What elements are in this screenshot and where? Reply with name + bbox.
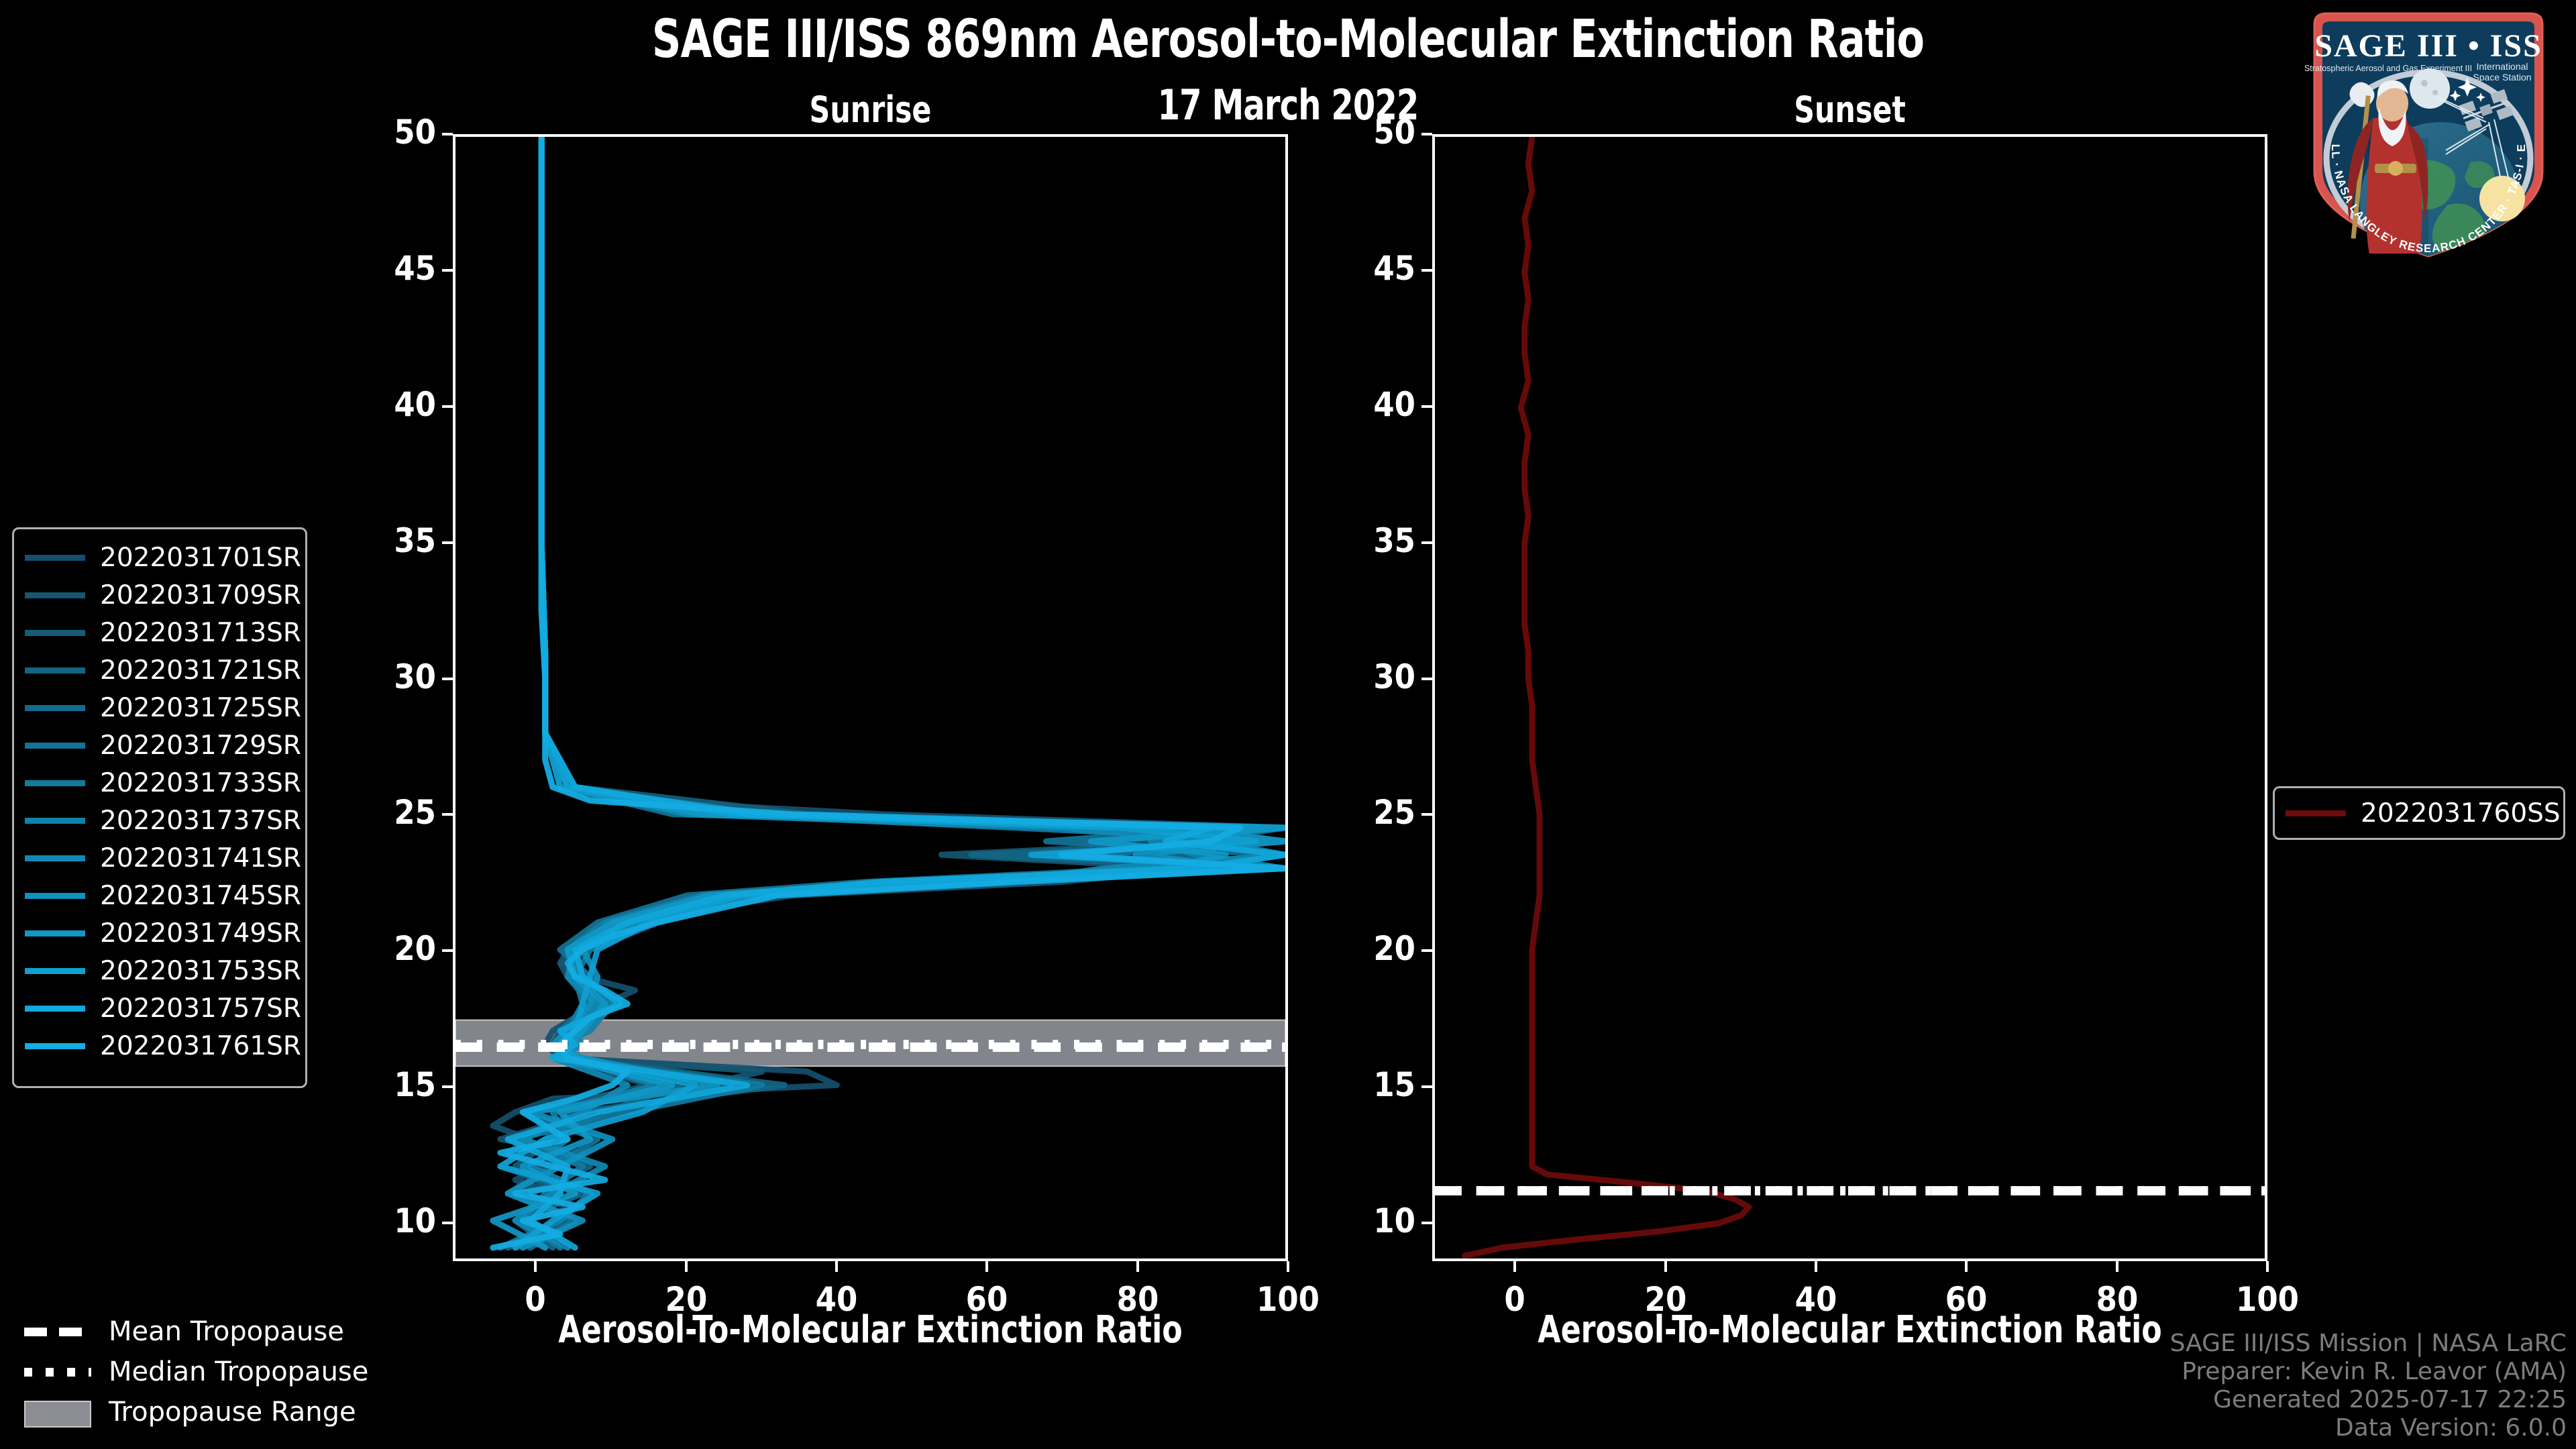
y-axis-tick-label: 30	[352, 657, 436, 696]
legend-label: 2022031745SR	[100, 881, 301, 911]
legend-row[interactable]: 2022031749SR	[25, 914, 294, 952]
legend-color-swatch	[25, 968, 85, 974]
y-axis-tick-mark	[442, 678, 453, 680]
y-axis-tick-mark	[1421, 541, 1432, 544]
x-axis-tick-label: 0	[487, 1280, 584, 1319]
legend-label: 2022031729SR	[100, 731, 301, 761]
legend-color-swatch	[25, 1043, 85, 1049]
y-axis-tick-mark	[1421, 678, 1432, 680]
legend-label: 2022031753SR	[100, 956, 301, 986]
legend-row[interactable]: 2022031753SR	[25, 952, 294, 989]
y-axis-tick-mark	[1421, 949, 1432, 952]
y-axis-tick-mark	[1421, 133, 1432, 136]
y-axis-tick-mark	[1421, 405, 1432, 408]
x-axis-tick-label: 20	[1617, 1280, 1714, 1319]
panel-title-sunrise: Sunrise	[503, 89, 1238, 131]
y-axis-tick-label: 35	[352, 521, 436, 560]
legend-label: 2022031701SR	[100, 543, 301, 573]
dashed-line-icon	[24, 1328, 91, 1336]
legend-label: 2022031749SR	[100, 918, 301, 949]
x-axis-tick-label: 40	[788, 1280, 885, 1319]
y-axis-tick-label: 10	[352, 1201, 436, 1240]
y-axis-tick-label: 40	[352, 385, 436, 424]
y-axis-tick-mark	[442, 269, 453, 272]
plot-area-sunrise[interactable]	[453, 134, 1288, 1261]
legend-row[interactable]: 2022031701SR	[25, 539, 294, 576]
legend-color-swatch	[25, 667, 85, 674]
x-axis-tick-mark	[534, 1261, 537, 1272]
x-axis-tick-mark	[835, 1261, 838, 1272]
x-axis-tick-mark	[1513, 1261, 1516, 1272]
y-axis-tick-label: 45	[1331, 249, 1415, 288]
x-axis-tick-label: 60	[938, 1280, 1035, 1319]
legend-label-mean-tropopause: Mean Tropopause	[109, 1316, 344, 1347]
x-axis-tick-label: 80	[2069, 1280, 2165, 1319]
legend-label: 2022031721SR	[100, 655, 301, 686]
y-axis-tick-label: 20	[1331, 929, 1415, 968]
x-axis-tick-mark	[1664, 1261, 1667, 1272]
legend-row[interactable]: 2022031737SR	[25, 802, 294, 839]
x-axis-tick-label: 40	[1768, 1280, 1864, 1319]
legend-color-swatch	[25, 780, 85, 786]
profile-line	[515, 137, 1285, 1248]
credits-line-generated: Generated 2025-07-17 22:25	[2170, 1386, 2567, 1414]
legend-row[interactable]: 2022031761SR	[25, 1027, 294, 1065]
y-axis-tick-mark	[442, 541, 453, 544]
y-axis-tick-mark	[1421, 1085, 1432, 1088]
legend-label: 2022031741SR	[100, 843, 301, 873]
profile-line	[1465, 137, 1749, 1256]
x-axis-tick-label: 60	[1918, 1280, 2015, 1319]
legend-color-swatch	[25, 1006, 85, 1012]
y-axis-tick-label: 25	[1331, 793, 1415, 832]
y-axis-tick-label: 30	[1331, 657, 1415, 696]
dotted-line-icon	[24, 1368, 91, 1377]
legend-sunset[interactable]: 2022031760SS	[2273, 786, 2565, 840]
legend-label: 2022031725SR	[100, 693, 301, 723]
x-axis-tick-mark	[1136, 1261, 1139, 1272]
plot-area-sunset[interactable]	[1432, 134, 2267, 1261]
legend-row[interactable]: 2022031725SR	[25, 689, 294, 727]
y-axis-tick-mark	[442, 949, 453, 952]
legend-label: 2022031757SR	[100, 994, 301, 1024]
legend-label: 2022031737SR	[100, 806, 301, 836]
legend-row[interactable]: 2022031733SR	[25, 764, 294, 802]
credits-line-preparer: Preparer: Kevin R. Leavor (AMA)	[2170, 1358, 2567, 1386]
y-axis-tick-label: 10	[1331, 1201, 1415, 1240]
y-axis-tick-mark	[442, 1222, 453, 1224]
credits-block: SAGE III/ISS Mission | NASA LaRC Prepare…	[2170, 1330, 2567, 1442]
legend-row[interactable]: 2022031721SR	[25, 651, 294, 689]
legend-label: 2022031709SR	[100, 580, 301, 610]
legend-color-swatch	[25, 630, 85, 636]
legend-color-swatch	[25, 705, 85, 711]
y-axis-tick-mark	[442, 405, 453, 408]
x-axis-tick-mark	[2266, 1261, 2269, 1272]
legend-row[interactable]: 2022031760SS	[2286, 794, 2561, 832]
y-axis-tick-mark	[1421, 813, 1432, 816]
legend-color-swatch	[25, 893, 85, 899]
y-axis-tick-mark	[442, 133, 453, 136]
legend-row[interactable]: 2022031729SR	[25, 727, 294, 764]
legend-color-swatch	[25, 818, 85, 824]
legend-row[interactable]: 2022031757SR	[25, 989, 294, 1027]
y-axis-tick-label: 40	[1331, 385, 1415, 424]
y-axis-tick-label: 45	[352, 249, 436, 288]
legend-color-swatch	[25, 743, 85, 749]
legend-color-swatch	[25, 592, 85, 598]
y-axis-tick-label: 25	[352, 793, 436, 832]
legend-row-mean-tropopause[interactable]: Mean Tropopause	[15, 1311, 364, 1352]
x-axis-tick-mark	[1287, 1261, 1289, 1272]
legend-label: 2022031760SS	[2361, 798, 2561, 828]
y-axis-tick-mark	[1421, 269, 1432, 272]
legend-label-median-tropopause: Median Tropopause	[109, 1356, 368, 1387]
legend-row[interactable]: 2022031741SR	[25, 839, 294, 877]
x-axis-tick-mark	[2116, 1261, 2118, 1272]
legend-row-median-tropopause[interactable]: Median Tropopause	[15, 1352, 364, 1392]
svg-text:Space Station: Space Station	[2473, 72, 2531, 83]
y-axis-tick-label: 50	[352, 113, 436, 152]
y-axis-tick-mark	[1421, 1222, 1432, 1224]
legend-label: 2022031713SR	[100, 618, 301, 648]
x-axis-tick-label: 20	[638, 1280, 735, 1319]
range-swatch-icon	[24, 1401, 91, 1428]
legend-label: 2022031761SR	[100, 1031, 301, 1061]
legend-label-tropopause-range: Tropopause Range	[109, 1397, 356, 1428]
credits-line-version: Data Version: 6.0.0	[2170, 1414, 2567, 1442]
legend-row[interactable]: 2022031713SR	[25, 614, 294, 651]
legend-row[interactable]: 2022031709SR	[25, 576, 294, 614]
legend-color-swatch	[25, 930, 85, 936]
y-axis-tick-mark	[442, 1085, 453, 1088]
panel-title-sunset: Sunset	[1483, 89, 2218, 131]
x-axis-tick-label: 80	[1089, 1280, 1186, 1319]
x-axis-tick-mark	[1965, 1261, 1968, 1272]
legend-label: 2022031733SR	[100, 768, 301, 798]
y-axis-tick-label: 35	[1331, 521, 1415, 560]
legend-color-swatch	[25, 855, 85, 861]
legend-sunrise[interactable]: 2022031701SR2022031709SR2022031713SR2022…	[12, 527, 307, 1088]
x-axis-tick-label: 100	[1240, 1280, 1336, 1319]
credits-line-mission: SAGE III/ISS Mission | NASA LaRC	[2170, 1330, 2567, 1358]
x-axis-tick-mark	[985, 1261, 988, 1272]
y-axis-tick-mark	[442, 813, 453, 816]
x-axis-tick-mark	[685, 1261, 688, 1272]
y-axis-tick-label: 20	[352, 929, 436, 968]
x-axis-tick-label: 0	[1466, 1280, 1563, 1319]
y-axis-tick-label: 15	[352, 1065, 436, 1104]
legend-row-tropopause-range[interactable]: Tropopause Range	[15, 1392, 364, 1432]
legend-row[interactable]: 2022031745SR	[25, 877, 294, 914]
legend-tropopause[interactable]: Mean Tropopause Median Tropopause Tropop…	[15, 1311, 364, 1432]
legend-color-swatch	[2286, 810, 2346, 816]
legend-color-swatch	[25, 555, 85, 561]
x-axis-tick-label: 100	[2219, 1280, 2316, 1319]
x-axis-tick-mark	[1815, 1261, 1817, 1272]
svg-text:International: International	[2476, 61, 2528, 72]
y-axis-tick-label: 50	[1331, 113, 1415, 152]
page-title: SAGE III/ISS 869nm Aerosol-to-Molecular …	[180, 9, 2396, 70]
y-axis-tick-label: 15	[1331, 1065, 1415, 1104]
